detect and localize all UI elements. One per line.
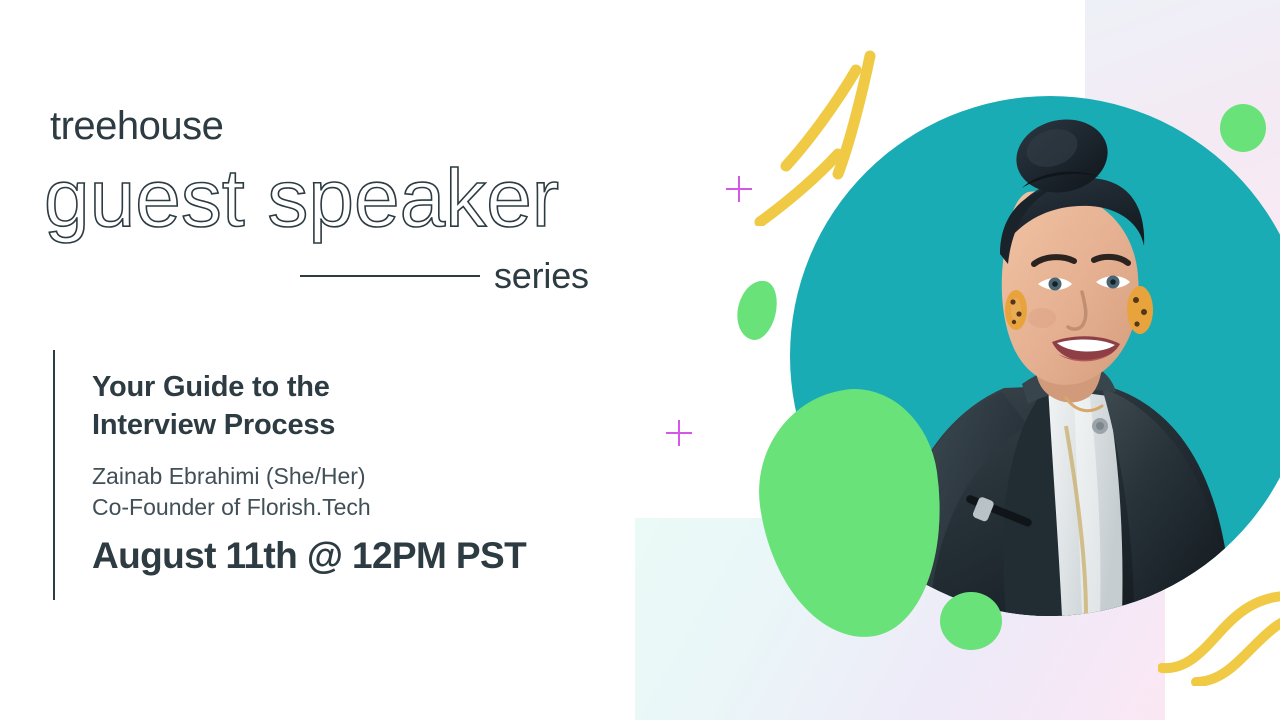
treehouse-wordmark: treehouse [50,106,223,146]
talk-title: Your Guide to the Interview Process [92,368,335,445]
series-row: series [300,252,630,300]
speaker-role: Co-Founder of Florish.Tech [92,492,371,523]
yellow-squiggle-icon [1158,576,1280,686]
guest-speaker-headline: guest speaker [44,158,559,240]
green-blob-circle-bottom [940,592,1002,650]
magenta-plus-icon-lower [666,420,692,446]
vertical-divider [53,350,55,600]
talk-title-line-1: Your Guide to the [92,368,335,406]
event-date-time: August 11th @ 12PM PST [92,536,526,577]
yellow-spark-lines-icon [752,46,882,226]
green-blob-circle-top-right [1220,104,1266,152]
talk-title-line-2: Interview Process [92,406,335,444]
title-text-column: treehouse guest speaker series Your Guid… [0,0,660,720]
series-label: series [494,258,589,294]
green-blob-small-upper [731,276,782,343]
slide-canvas: treehouse guest speaker series Your Guid… [0,0,1280,720]
series-rule-divider [300,275,480,277]
magenta-plus-icon-upper [726,176,752,202]
speaker-name: Zainab Ebrahimi (She/Her) [92,461,366,492]
